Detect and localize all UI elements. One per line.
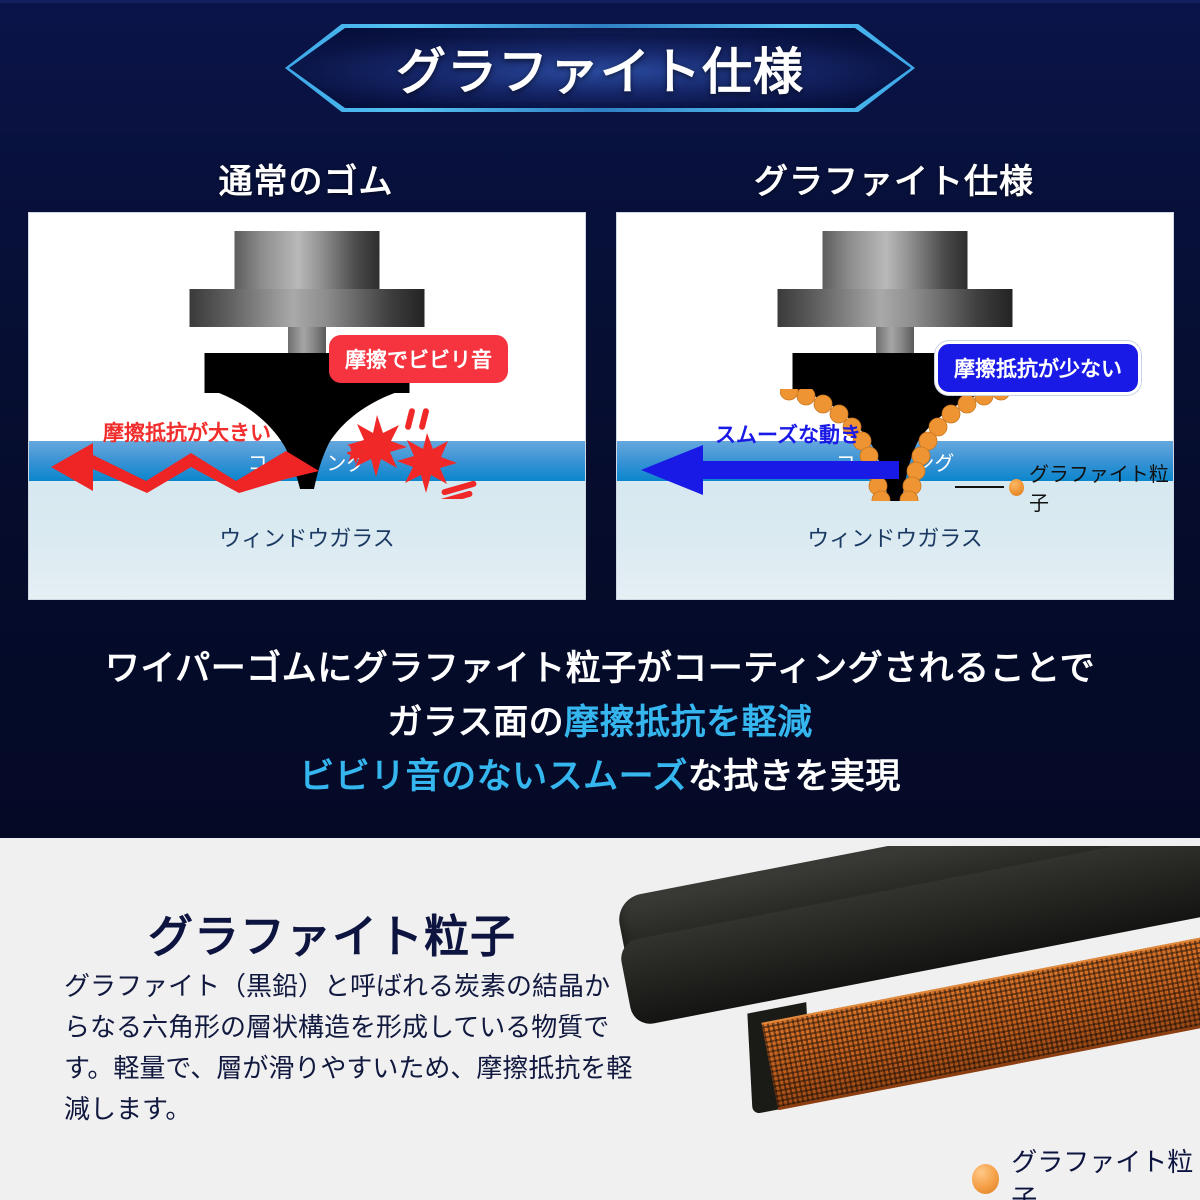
diagram-normal-rubber: ウィンドウガラス コーティング 摩擦でビビリ音 摩擦抵抗が大きい: [28, 212, 586, 600]
glass-label-right: ウィンドウガラス: [617, 521, 1173, 553]
particle-legend: グラファイト粒子: [955, 458, 1173, 516]
metal-holder-mid-right: [778, 289, 1013, 327]
description-line-2-plain: ガラス面の: [387, 703, 564, 742]
metal-holder-mid-left: [190, 289, 425, 327]
photo-particle-legend: グラファイト粒子: [972, 1142, 1200, 1200]
zigzag-arrow-left-icon: [51, 441, 321, 497]
metal-holder-neck-right: [876, 327, 914, 353]
graphite-particle-dot-large-icon: [972, 1164, 999, 1194]
top-hairline: [0, 0, 1200, 3]
bottom-heading: グラファイト粒子: [148, 900, 516, 965]
title-banner: グラファイト仕様: [285, 24, 915, 112]
metal-holder-top-left: [235, 231, 380, 289]
badge-low-friction: 摩擦抵抗が少ない: [935, 341, 1141, 395]
legend-label: グラファイト粒子: [1029, 458, 1173, 516]
description-line-3-highlight-b: スムーズ: [548, 757, 688, 796]
description-line-2-highlight: 摩擦抵抗を軽減: [564, 703, 813, 742]
description-line-3-plain: な拭きを実現: [688, 757, 901, 796]
description-line-2: ガラス面の摩擦抵抗を軽減: [0, 696, 1200, 750]
description-line-1: ワイパーゴムにグラファイト粒子がコーティングされることで: [0, 642, 1200, 696]
diagram-graphite: ウィンドウガラス コーティング: [616, 212, 1174, 600]
legend-leader-line: [955, 486, 1004, 488]
bottom-body-text: グラファイト（黒鉛）と呼ばれる炭素の結晶からなる六角形の層状構造を形成している物…: [64, 966, 634, 1130]
badge-chatter-noise: 摩擦でビビリ音: [329, 335, 508, 383]
infographic-page: グラファイト仕様 通常のゴム ウィンドウガラス コーティング 摩擦でビビリ音 摩…: [0, 0, 1200, 1200]
metal-holder-neck-left: [288, 327, 326, 353]
description-line-3-highlight-a: ビビリ音のない: [299, 757, 548, 796]
panel-normal-heading: 通常のゴム: [28, 152, 584, 212]
photo-legend-label: グラファイト粒子: [1011, 1142, 1200, 1200]
straight-arrow-left-icon: [641, 445, 901, 495]
description-block: ワイパーゴムにグラファイト粒子がコーティングされることで ガラス面の摩擦抵抗を軽…: [0, 642, 1200, 804]
description-line-3: ビビリ音のないスムーズな拭きを実現: [0, 750, 1200, 804]
panel-normal-rubber: 通常のゴム ウィンドウガラス コーティング 摩擦でビビリ音 摩擦抵抗が大きい: [28, 152, 584, 600]
panel-graphite: グラファイト仕様 ウィンドウガラス コーティング: [616, 152, 1172, 600]
glass-label-left: ウィンドウガラス: [29, 521, 585, 553]
graphite-particle-dot-icon: [1009, 479, 1024, 496]
metal-holder-top-right: [823, 231, 968, 289]
glass-layer-left: ウィンドウガラス: [29, 481, 585, 599]
banner-title-text: グラファイト仕様: [285, 24, 915, 112]
panel-graphite-heading: グラファイト仕様: [616, 152, 1172, 212]
spark-burst-icon: [347, 407, 477, 499]
